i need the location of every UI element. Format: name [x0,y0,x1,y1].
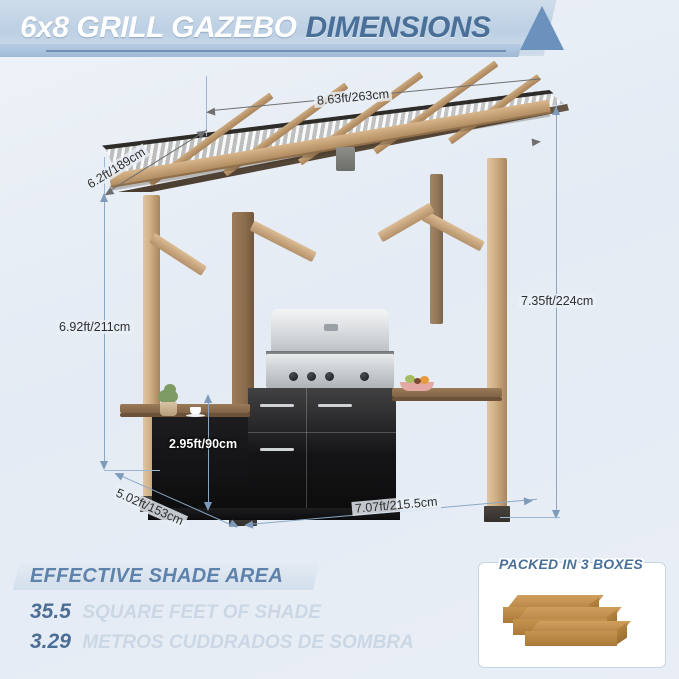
box-top-face [531,621,631,631]
shade-row-metric: 3.29 METROS CUDDRADOS DE SOMBRA [30,630,414,654]
cabinet-divider [306,432,396,433]
post-base-plate [484,506,510,522]
ext-line [500,517,560,518]
plant-foliage [164,384,176,395]
grill-knob [307,372,316,381]
arrow-head [204,502,212,511]
arrow-head [100,461,108,470]
shelf-right-edge [392,397,502,401]
ext-line [104,470,160,471]
cabinet-left-block [152,414,248,514]
arrow-head [206,108,216,117]
shelf-left-edge [120,413,250,417]
shade-value-sqft: 35.5 [30,600,71,623]
gazebo-illustration: 6.2ft/189cm 8.63ft/263cm 7.35ft/224cm 6.… [0,62,679,542]
arrow-head [524,497,534,506]
shade-text-sqm: METROS CUDDRADOS DE SOMBRA [82,632,413,653]
shade-value-sqm: 3.29 [30,630,71,653]
header-triangle-icon [520,6,564,50]
header-banner: 6x8 GRILL GAZEBO DIMENSIONS [0,0,679,62]
box-front-face [525,631,617,646]
grill-cabinet [248,388,396,514]
ext-line [206,76,207,100]
dimension-line-counter-height [208,398,209,508]
dimension-line-height-right [556,110,557,516]
post-back-right [430,174,443,324]
title-product: 6x8 GRILL GAZEBO [20,11,297,45]
packaging-title: PACKED IN 3 BOXES [481,556,661,572]
shade-text-sqft: SQUARE FEET OF SHADE [82,602,321,623]
drawer-handle [260,404,294,407]
dimension-label-height-left: 6.92ft/211cm [56,320,133,334]
arrow-head [532,138,542,147]
grill-lid [271,309,389,355]
cabinet-gloss [248,388,396,454]
fruit-berry [414,378,421,384]
grill-control-panel [266,354,394,388]
title-dimensions: DIMENSIONS [306,11,491,45]
dimension-label-counter-height: 2.95ft/90cm [166,437,240,451]
footer-section: EFFECTIVE SHADE AREA 35.5 SQUARE FEET OF… [0,548,679,679]
grill-knob [360,372,369,381]
corner-brace [250,221,317,263]
shade-heading: EFFECTIVE SHADE AREA [30,565,283,588]
post-front-right [487,158,507,520]
grill-knob [289,372,298,381]
dimension-label-height-right: 7.35ft/224cm [518,294,596,308]
arrow-head [552,106,560,115]
arrow-head [113,470,124,481]
grill-badge-icon [324,324,338,331]
drawer-handle [318,404,352,407]
arrow-head [100,193,108,202]
shade-row-imperial: 35.5 SQUARE FEET OF SHADE [30,600,321,624]
infographic-canvas: 6x8 GRILL GAZEBO DIMENSIONS [0,0,679,679]
arrow-head [204,394,212,403]
plant-pot [160,402,177,416]
page-title: 6x8 GRILL GAZEBO DIMENSIONS [20,6,491,50]
fruit-orange [420,376,429,384]
arrow-head [244,521,254,530]
header-rule [46,50,506,52]
packaging-card [478,562,666,668]
cabinet-divider [306,388,307,514]
beam-bracket-icon [336,147,355,171]
shelf-left [120,404,250,413]
package-box [525,621,627,649]
cup-saucer [186,414,205,417]
drawer-handle [260,448,294,451]
cabinet-divider [248,432,306,433]
grill-knob [325,372,334,381]
